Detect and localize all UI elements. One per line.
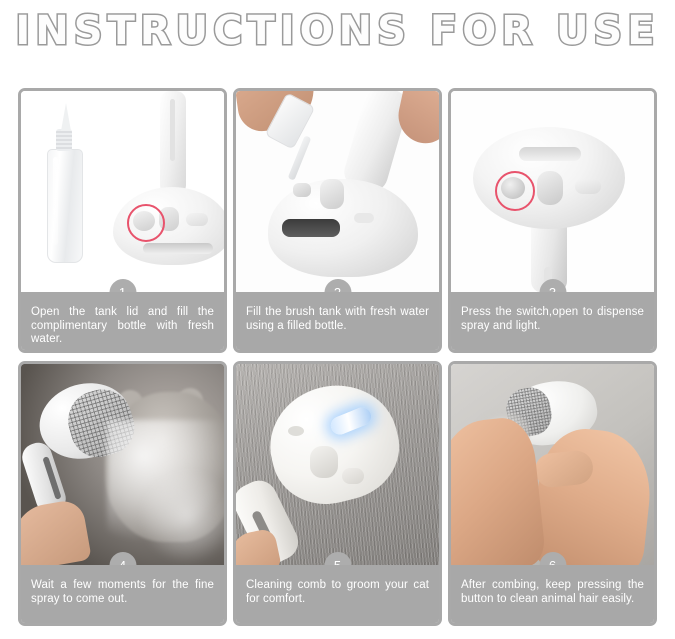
brush-knob <box>537 171 563 205</box>
step-3-caption: Press the switch,open to dispense spray … <box>451 292 654 350</box>
steps-grid: 1 Open the tank lid and fill the complim… <box>18 88 657 626</box>
scene-spraying-mist-at-cat <box>21 364 224 565</box>
step-5-caption: Cleaning comb to groom your cat for comf… <box>236 565 439 623</box>
step-6-image: 6 <box>451 364 654 565</box>
scene-bottle-and-base-unit <box>21 91 224 292</box>
brush-side-button <box>342 468 364 484</box>
highlight-ring-icon <box>495 171 535 211</box>
step-panel-1: 1 Open the tank lid and fill the complim… <box>18 88 227 353</box>
step-panel-2: 2 Fill the brush tank with fresh water u… <box>233 88 442 353</box>
brush-surface-dimple <box>288 426 304 436</box>
step-2-image: 2 <box>236 91 439 292</box>
step-panel-3: 3 Press the switch,open to dispense spra… <box>448 88 657 353</box>
bottle-highlight <box>53 157 58 245</box>
brush-side-button <box>354 213 374 223</box>
brush-knob <box>320 179 344 209</box>
scene-hands-filling-tank <box>236 91 439 292</box>
step-panel-6: 6 After combing, keep pressing the butto… <box>448 361 657 626</box>
step-5-image: 5 <box>236 364 439 565</box>
brush-stem-slot <box>170 99 175 161</box>
scene-closeup-switch <box>451 91 654 292</box>
page-title-container: INSTRUCTIONS FOR USE <box>0 4 675 58</box>
brush-side-button <box>575 179 601 194</box>
instructions-infographic: INSTRUCTIONS FOR USE <box>0 0 675 639</box>
brush-side-button <box>186 213 208 226</box>
step-4-image: 4 <box>21 364 224 565</box>
brush-knob <box>310 446 338 478</box>
step-1-caption: Open the tank lid and fill the complimen… <box>21 292 224 353</box>
open-tank-lid <box>293 183 311 197</box>
step-2-caption: Fill the brush tank with fresh water usi… <box>236 292 439 350</box>
page-title: INSTRUCTIONS FOR USE <box>15 4 659 58</box>
step-4-caption: Wait a few moments for the fine spray to… <box>21 565 224 623</box>
scene-removing-hair-from-brush <box>451 364 654 565</box>
water-mist-spray-secondary <box>139 468 224 564</box>
step-panel-4: 4 Wait a few moments for the fine spray … <box>18 361 227 626</box>
step-6-caption: After combing, keep pressing the button … <box>451 565 654 623</box>
step-1-image: 1 <box>21 91 224 292</box>
highlight-ring-icon <box>127 204 165 242</box>
water-tank-window <box>143 243 213 254</box>
scene-brush-on-cat-fur <box>236 364 439 565</box>
step-panel-5: 5 Cleaning comb to groom your cat for co… <box>233 361 442 626</box>
step-3-image: 3 <box>451 91 654 292</box>
water-tank-window <box>282 219 340 237</box>
water-tank-window <box>519 147 581 161</box>
bottle-nozzle-tip <box>61 103 71 131</box>
bottle-neck <box>56 129 72 151</box>
